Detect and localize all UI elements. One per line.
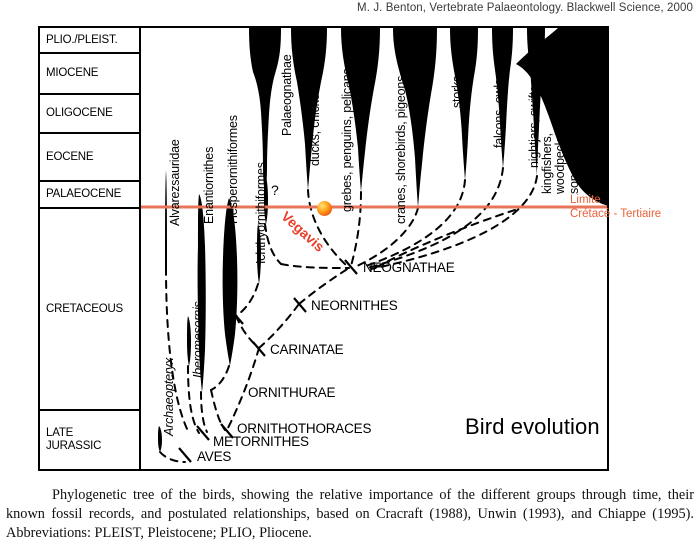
branch-archaeopteryx (160, 452, 185, 462)
source-credit: M. J. Benton, Vertebrate Palaeontology. … (0, 2, 693, 14)
node-aves (179, 448, 191, 462)
epoch-label: EOCENE (46, 151, 93, 164)
branch-ichthyornithiformes (236, 284, 258, 316)
uncertainty-marker: ? (271, 182, 279, 198)
kt-boundary-annotation: Limite Crétacé - Tertiaire (570, 193, 661, 222)
taxon-label-ducks-chickens: ducks, chickens (309, 81, 322, 166)
taxon-label-line3: songbirds (568, 119, 581, 194)
geological-time-column: PLIO./PLEIST. MIOCENE OLIGOCENE EOCENE P… (40, 28, 141, 469)
branch-neognathae-cranes (357, 208, 418, 266)
epoch-label: PLIO./PLEIST. (46, 34, 118, 47)
taxon-label-palaeognathae: Palaeognathae (281, 54, 294, 136)
caption-line1: Phylogenetic tree of the birds, showing … (6, 487, 626, 503)
taxon-label-storks: storks (451, 76, 464, 108)
clade-label-metornithes: METORNITHES (213, 434, 309, 449)
phylogenetic-tree-figure: PLIO./PLEIST. MIOCENE OLIGOCENE EOCENE P… (38, 26, 609, 471)
figure-caption: Phylogenetic tree of the birds, showing … (6, 486, 694, 543)
epoch-label: OLIGOCENE (46, 107, 113, 120)
taxon-label-kingfishers-woodpeckers-songbirds: kingfishers, woodpeckers, songbirds (541, 119, 581, 194)
epoch-label: LATE JURASSIC (46, 427, 101, 453)
epoch-miocene: MIOCENE (40, 54, 139, 95)
epoch-label-line1: LATE (46, 427, 73, 439)
taxon-label-cranes-shorebirds-pigeons: cranes, shorebirds, pigeons (395, 76, 408, 224)
taxon-label-falcons-owls: falcons, owls (493, 79, 506, 148)
taxon-label-iberomesornis: Iberomesornis (192, 301, 205, 378)
taxon-label-hesperornithiformes: Hesperornithiformes (227, 115, 240, 224)
epoch-cretaceous: CRETACEOUS (40, 209, 139, 411)
epoch-label: MIOCENE (46, 67, 98, 80)
taxon-label-enantiornithes: Enantiornithes (203, 147, 216, 224)
epoch-plio-pleist: PLIO./PLEIST. (40, 28, 139, 54)
epoch-oligocene: OLIGOCENE (40, 95, 139, 134)
branch-hesperornithiformes (211, 366, 229, 390)
branch-palaeognathae-2 (281, 264, 349, 268)
clade-label-aves: AVES (197, 449, 231, 464)
tree-plot-area: Alvarezsauridae Iberomesornis Archaeopte… (141, 28, 607, 469)
clade-label-carinatae: CARINATAE (270, 342, 343, 357)
taxon-label-nightjars-swifts: nightjars, swifts (528, 86, 541, 168)
epoch-palaeocene: PALAEOCENE (40, 182, 139, 209)
branch-hesperornithiformes2 (211, 390, 225, 430)
taxon-label-alvarezsauridae: Alvarezsauridae (169, 139, 182, 226)
epoch-eocene: EOCENE (40, 134, 139, 182)
taxon-label-line1: kingfishers, (541, 119, 554, 194)
taxon-label-archaeopteryx: Archaeopteryx (163, 358, 176, 436)
epoch-late-jurassic: LATE JURASSIC (40, 411, 139, 469)
epoch-label: PALAEOCENE (46, 188, 121, 201)
vegavis-marker-dot (317, 201, 332, 216)
silhouette-alvarezsauridae (165, 170, 167, 268)
branch-enantiornithes (201, 392, 207, 432)
clade-label-neornithes: NEORNITHES (311, 298, 398, 313)
kt-boundary-line2: Crétacé - Tertiaire (570, 207, 661, 221)
clade-label-neognathae: NEOGNATHAE (363, 260, 455, 275)
kt-boundary-line1: Limite (570, 193, 661, 207)
clade-label-ornithurae: ORNITHURAE (248, 385, 335, 400)
epoch-label: CRETACEOUS (46, 303, 123, 316)
taxon-label-line2: woodpeckers, (554, 119, 567, 194)
taxon-label-ichthyornithiformes: Ichthyornithiformes (255, 162, 268, 264)
figure-title: Bird evolution (465, 414, 600, 440)
taxon-label-grebes-penguins-pelicans: grebes, penguins, pelicans (341, 68, 354, 212)
epoch-label-line2: JURASSIC (46, 440, 101, 452)
